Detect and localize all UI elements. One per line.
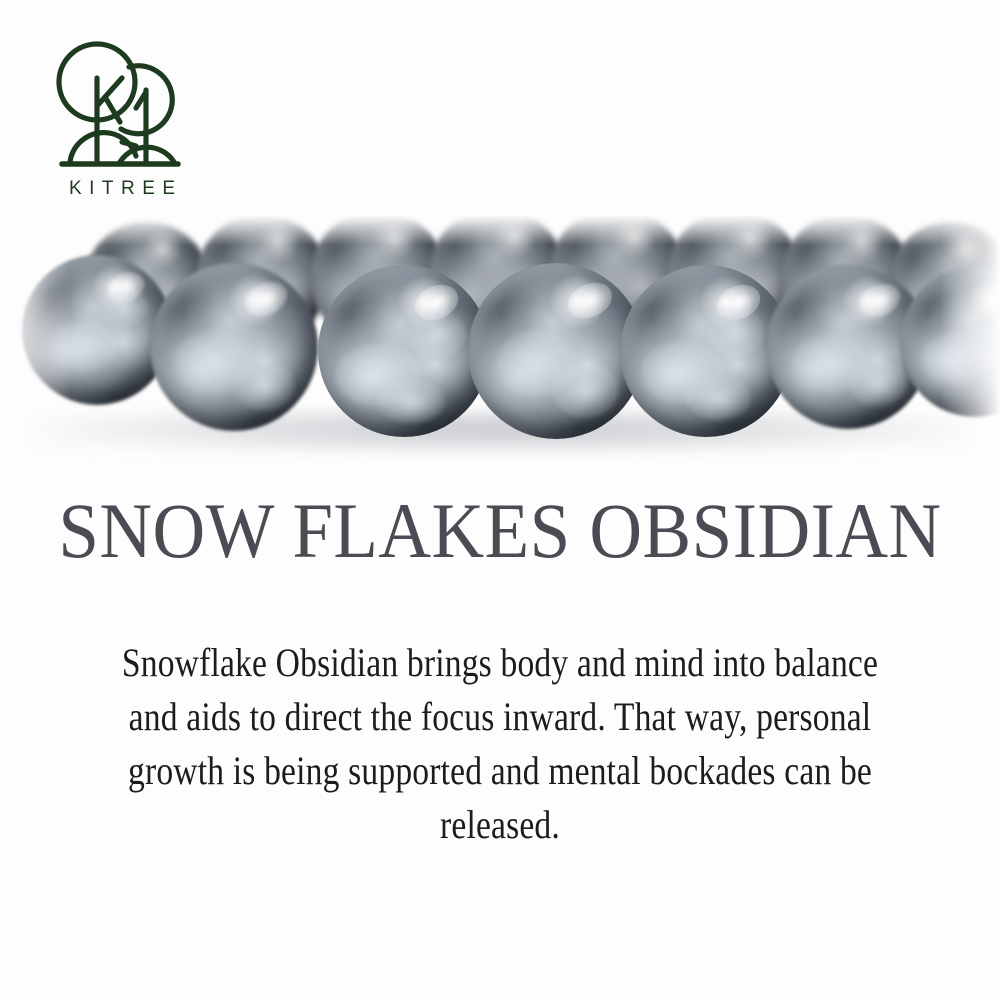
- product-title: SNOW FLAKES OBSIDIAN: [33, 492, 968, 570]
- two-trees-logo-icon: [50, 34, 190, 174]
- bead-front: [468, 263, 644, 439]
- photo-edge-fade: [0, 215, 1000, 245]
- bead-front: [150, 263, 318, 431]
- bead-front: [318, 265, 490, 437]
- brand-logo: KITREE: [44, 34, 204, 214]
- bead-highlight: [562, 276, 617, 325]
- bead-flake: [376, 379, 445, 424]
- product-photo: [0, 215, 1000, 480]
- bead-flake: [100, 288, 148, 327]
- bead-flake: [407, 310, 465, 358]
- bead-highlight: [853, 277, 905, 323]
- photo-edge-fade: [0, 446, 1000, 480]
- product-description: Snowflake Obsidian brings body and mind …: [104, 636, 897, 852]
- bead-flake: [685, 375, 750, 420]
- brand-wordmark: KITREE: [44, 178, 200, 200]
- bead-flake: [848, 360, 907, 406]
- bead-flake: [234, 360, 294, 410]
- bead-highlight: [239, 276, 292, 323]
- bracelet-image: [0, 215, 1000, 480]
- photo-edge-fade: [0, 215, 70, 480]
- bead-flake: [706, 306, 764, 358]
- bead-flake: [552, 362, 619, 418]
- photo-edge-fade: [940, 215, 1000, 480]
